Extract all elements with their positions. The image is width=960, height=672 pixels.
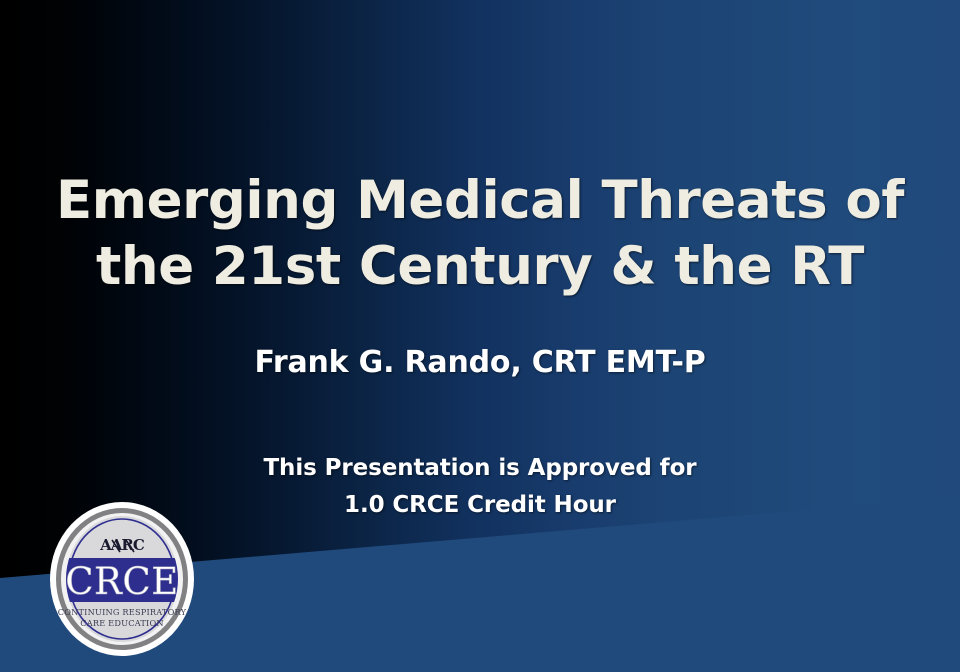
- svg-text:AARC: AARC: [99, 536, 145, 554]
- page-title-line-2: the 21st Century & the RT: [0, 234, 960, 300]
- presenter-name: Frank G. Rando, CRT EMT-P: [0, 344, 960, 382]
- aarc-mark-icon: AARC: [99, 536, 145, 554]
- crce-seal-logo: AARC CRCE CONTINUING RESPIRATORY CARE ED…: [48, 500, 196, 658]
- approval-statement-line-1: This Presentation is Approved for: [0, 450, 960, 487]
- svg-text:CONTINUING RESPIRATORY: CONTINUING RESPIRATORY: [58, 607, 187, 617]
- svg-text:CRCE: CRCE: [65, 560, 179, 603]
- slide-subtitle-block: Frank G. Rando, CRT EMT-P: [0, 344, 960, 382]
- page-title-line-1: Emerging Medical Threats of: [0, 168, 960, 234]
- slide-title-block: Emerging Medical Threats of the 21st Cen…: [0, 168, 960, 300]
- svg-text:CARE EDUCATION: CARE EDUCATION: [80, 618, 163, 628]
- presentation-slide: Emerging Medical Threats of the 21st Cen…: [0, 0, 960, 672]
